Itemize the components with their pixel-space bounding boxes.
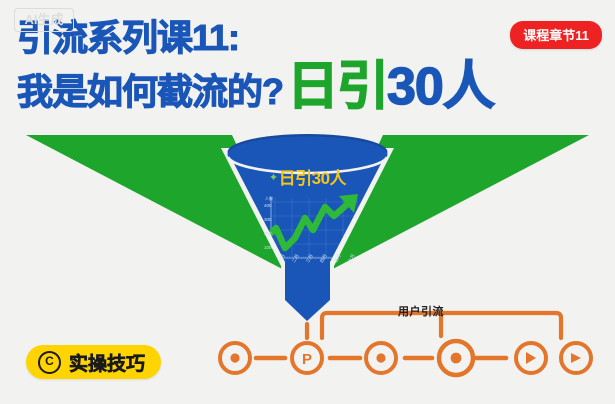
chart-ytick-0: 400: [264, 203, 272, 208]
flow-node-4[interactable]: [439, 341, 473, 375]
flow-node-5[interactable]: [516, 343, 546, 373]
headline-line-2: 我是如何截流的? 日引 30人: [17, 62, 494, 117]
headline-question: 我是如何截流的?: [17, 67, 283, 117]
flow-node-1[interactable]: [220, 343, 250, 373]
chart-yaxis-title: 人数: [265, 196, 273, 202]
skill-badge: C 实操技巧: [26, 345, 161, 379]
poster-canvas: AI生成 引流系列课11: 我是如何截流的? 日引 30人 课程章节11: [0, 0, 615, 404]
status-badge-chapter: 课程章节11: [510, 21, 602, 49]
copyright-icon: C: [38, 351, 61, 374]
flow-node-3[interactable]: [366, 343, 396, 373]
flow-diagram-label: 用户引流: [398, 303, 444, 319]
skill-badge-label: 实操技巧: [69, 349, 145, 376]
svg-text:P: P: [302, 351, 312, 368]
headline-highlight-blue: 30人: [387, 62, 494, 112]
headline-highlight-green: 日引: [287, 62, 387, 112]
chart-ytick-1: 300: [264, 217, 272, 222]
headline-line-1: 引流系列课11:: [17, 16, 494, 60]
chart-ytick-2: 200: [264, 231, 272, 236]
chart-ytick-3: 100: [264, 245, 272, 250]
flow-node-6[interactable]: [561, 343, 591, 373]
flow-node-2[interactable]: P: [292, 343, 322, 373]
page-title: 引流系列课11: 我是如何截流的? 日引 30人: [17, 16, 494, 117]
